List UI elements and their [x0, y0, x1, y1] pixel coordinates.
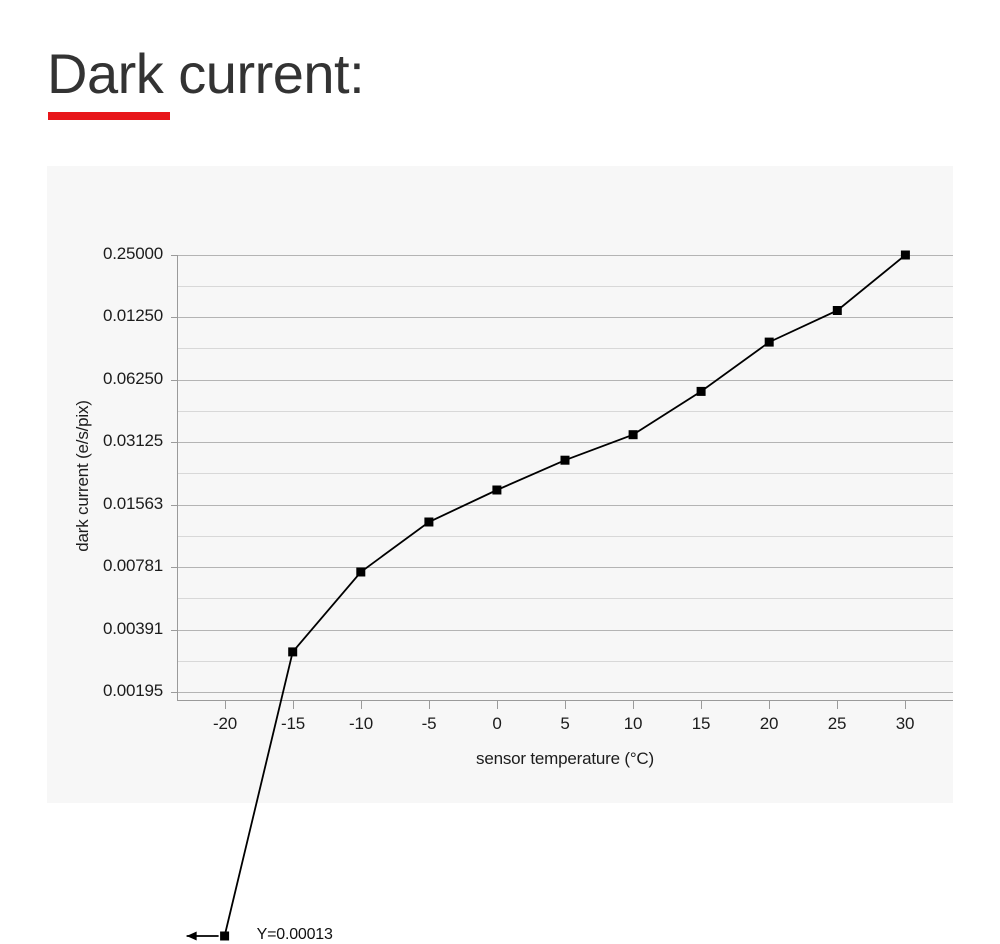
annotation-arrow-head	[187, 932, 197, 941]
data-point-marker	[288, 647, 297, 656]
chart-panel: 0.250000.012500.062500.031250.015630.007…	[47, 166, 953, 803]
data-point-marker	[901, 251, 910, 260]
data-point-marker	[765, 338, 774, 347]
data-point-marker	[424, 518, 433, 527]
x-axis-title: sensor temperature (°C)	[177, 749, 953, 769]
title-accent-underline	[48, 112, 170, 120]
data-point-marker	[629, 430, 638, 439]
y-axis-title: dark current (e/s/pix)	[73, 276, 93, 676]
data-point-marker	[492, 486, 501, 495]
data-point-marker	[220, 932, 229, 941]
data-series-plot	[47, 166, 953, 803]
data-point-marker	[561, 456, 570, 465]
data-point-marker	[356, 568, 365, 577]
page-title: Dark current:	[47, 46, 747, 102]
slide-title-block: Dark current:	[47, 46, 747, 146]
data-point-marker	[697, 387, 706, 396]
series-line	[225, 255, 906, 936]
annotation-label: Y=0.00013	[257, 926, 333, 944]
plot-area: 0.250000.012500.062500.031250.015630.007…	[47, 166, 953, 803]
data-point-marker	[833, 306, 842, 315]
